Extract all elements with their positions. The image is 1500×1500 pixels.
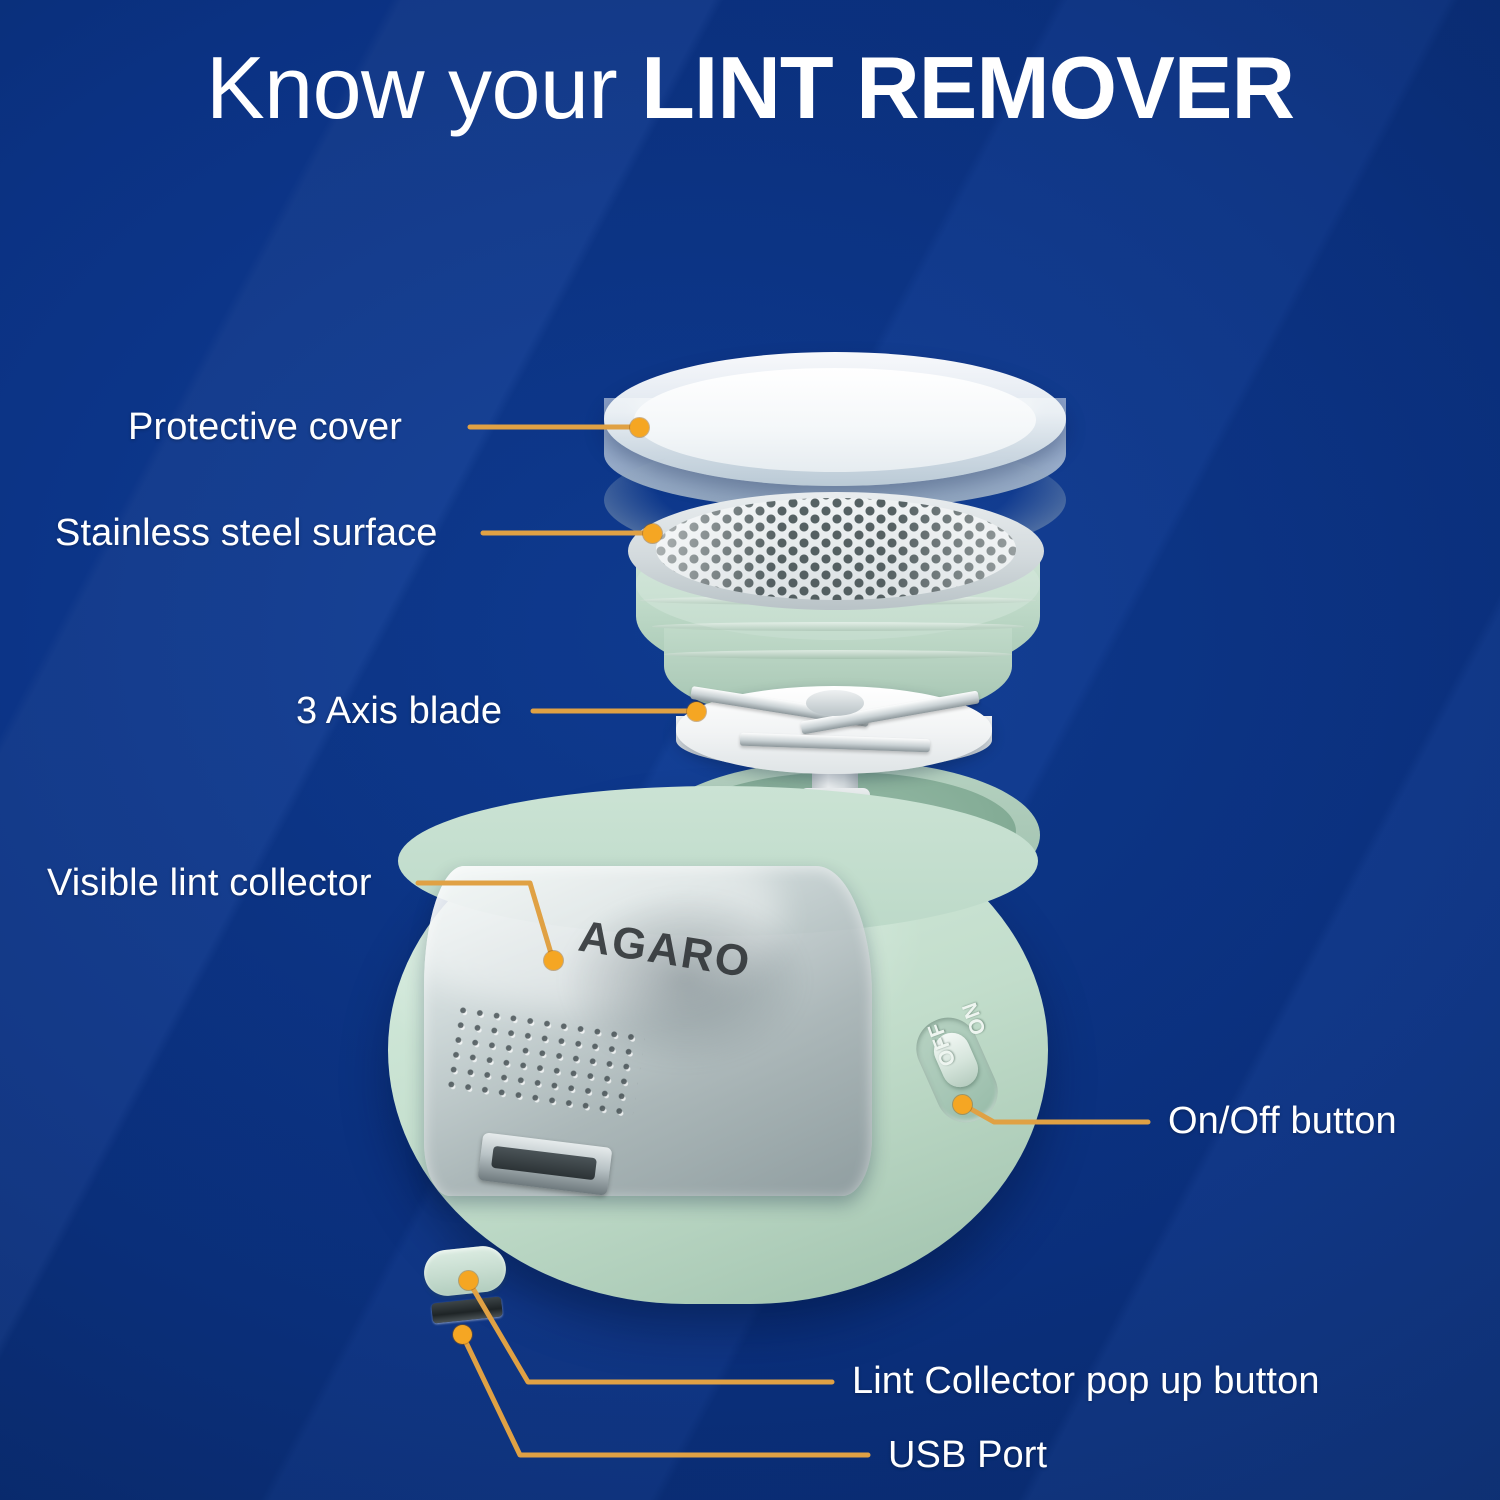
callout-label-stainless-surface: Stainless steel surface: [55, 512, 438, 555]
callout-dot-on-off[interactable]: [953, 1095, 972, 1114]
callout-dot-axis-blade[interactable]: [687, 702, 706, 721]
blade-hub: [806, 690, 864, 716]
callout-label-usb-port: USB Port: [888, 1434, 1047, 1477]
callout-dot-popup-button[interactable]: [459, 1271, 478, 1290]
callout-label-lint-collector: Visible lint collector: [47, 862, 372, 905]
callout-label-popup-button: Lint Collector pop up button: [852, 1360, 1320, 1403]
callout-dot-lint-collector[interactable]: [544, 951, 563, 970]
callout-dot-protective-cover[interactable]: [630, 418, 649, 437]
callout-label-protective-cover: Protective cover: [128, 406, 402, 449]
usb-port: [431, 1296, 503, 1323]
callout-dot-stainless-surface[interactable]: [643, 524, 662, 543]
callout-label-axis-blade: 3 Axis blade: [296, 690, 502, 733]
collar-ridge-3: [664, 650, 1012, 659]
callout-dot-usb-port[interactable]: [453, 1325, 472, 1344]
product-illustration: AGARO ON OFF: [0, 0, 1500, 1500]
callout-label-on-off: On/Off button: [1168, 1100, 1397, 1143]
infographic-canvas: Know your LINT REMOVER: [0, 0, 1500, 1500]
stainless-steel-sheen: [656, 498, 1016, 600]
collar-ridge-2: [652, 622, 1024, 631]
